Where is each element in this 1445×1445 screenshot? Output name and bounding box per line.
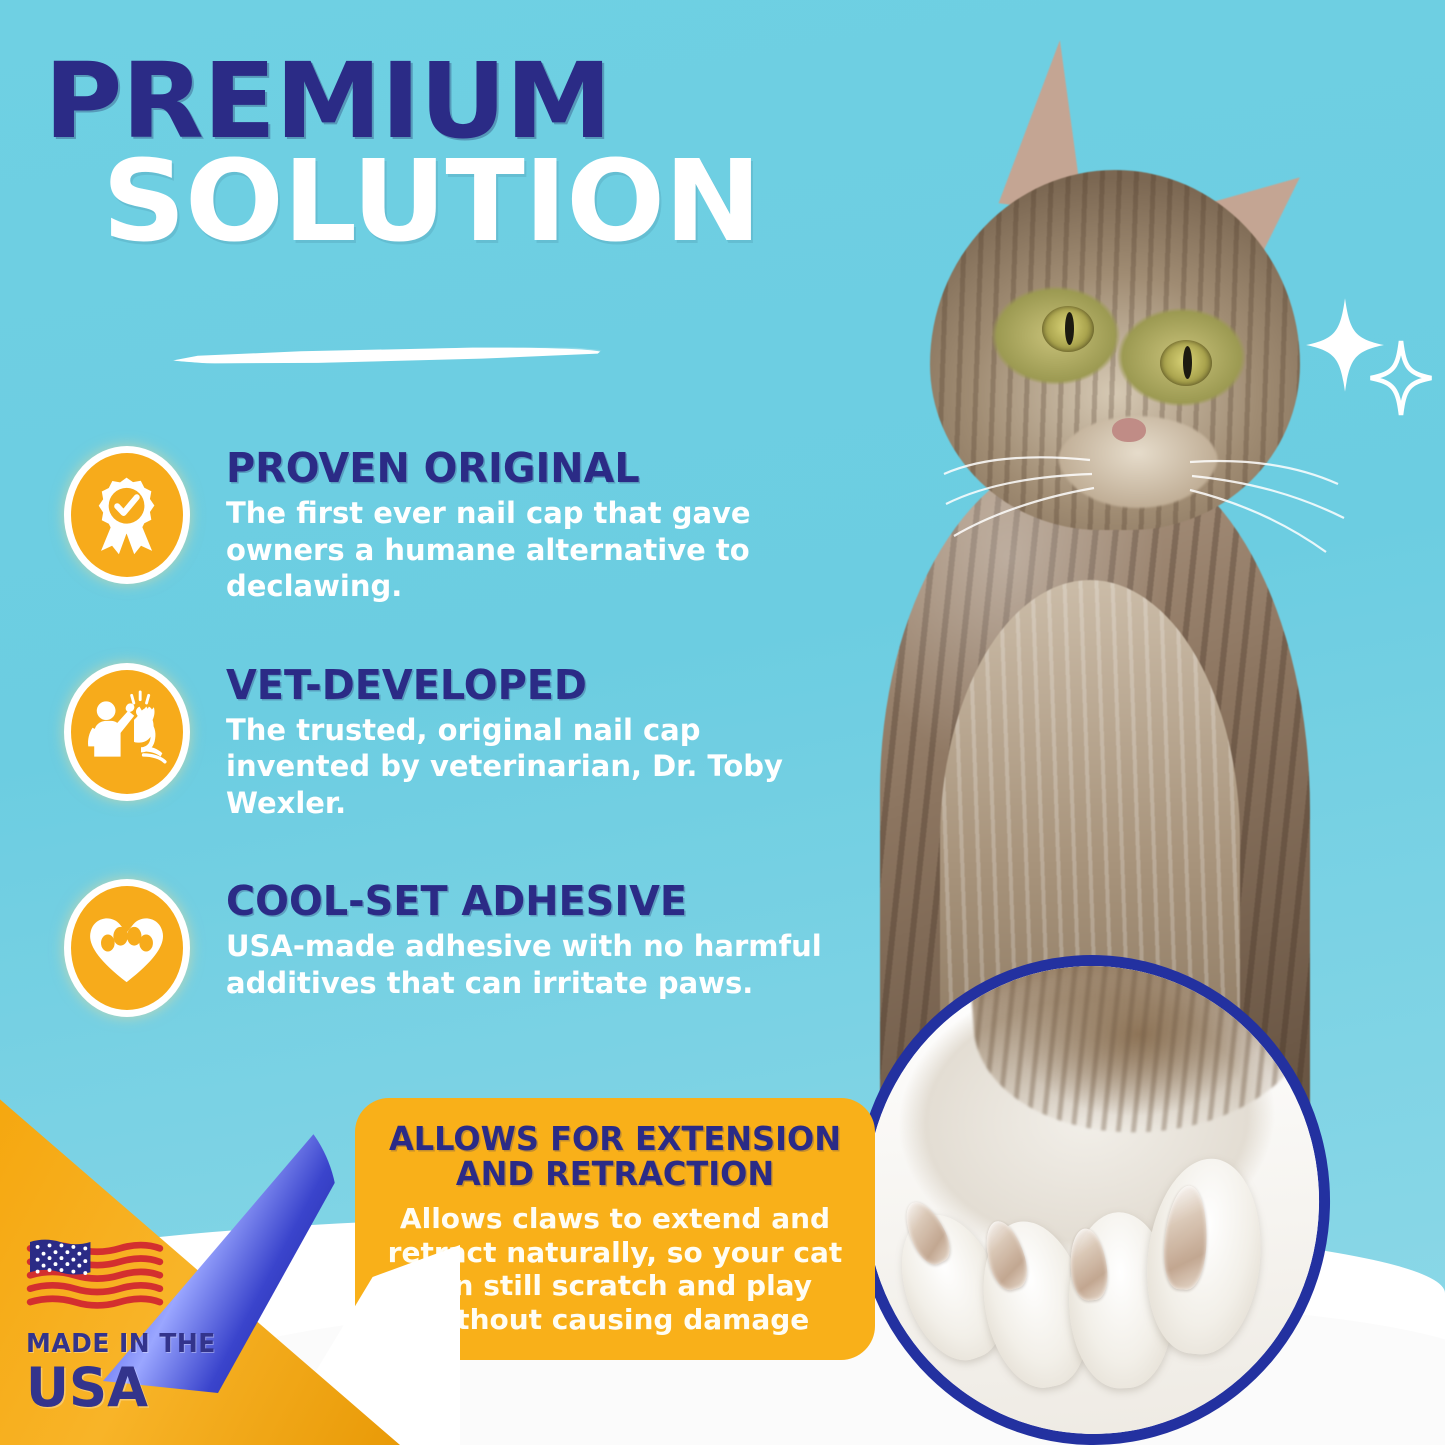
- feature-body: USA-made adhesive with no harmful additi…: [226, 928, 836, 1001]
- feature-title: PROVEN ORIGINAL: [226, 448, 808, 489]
- callout-title-line1: ALLOWS FOR EXTENSION: [384, 1122, 846, 1157]
- headline-line2: SOLUTION: [102, 146, 874, 258]
- made-in-usa-line2: USA: [26, 1361, 235, 1415]
- feature-title: VET-DEVELOPED: [226, 665, 818, 706]
- product-infographic: PREMIUM SOLUTION: [0, 0, 1445, 1445]
- usa-flag-icon: [24, 1235, 166, 1317]
- cat-paw-with-nail-caps-photo: [838, 939, 1346, 1445]
- vet-highfive-cat-icon: [56, 657, 198, 807]
- heart-paw-icon: [56, 873, 198, 1023]
- feature-body: The trusted, original nail cap invented …: [226, 712, 836, 822]
- feature-title: COOL-SET ADHESIVE: [226, 881, 818, 922]
- award-ribbon-check-icon: [56, 440, 198, 590]
- callout-title: ALLOWS FOR EXTENSION AND RETRACTION: [384, 1122, 846, 1192]
- feature-item: PROVEN ORIGINAL The first ever nail cap …: [56, 440, 836, 605]
- cat-eye-right: [1160, 340, 1212, 386]
- made-in-usa-badge: MADE IN THE USA: [24, 1235, 239, 1415]
- feature-list: PROVEN ORIGINAL The first ever nail cap …: [56, 440, 836, 1075]
- callout-title-line2: AND RETRACTION: [384, 1157, 846, 1192]
- cat-nose: [1112, 418, 1146, 442]
- made-in-usa-line1: MADE IN THE: [26, 1331, 230, 1357]
- feature-body: The first ever nail cap that gave owners…: [226, 495, 826, 605]
- feature-item: COOL-SET ADHESIVE USA-made adhesive with…: [56, 873, 836, 1023]
- feature-item: VET-DEVELOPED The trusted, original nail…: [56, 657, 836, 822]
- cat-eye-left: [1042, 306, 1094, 352]
- headline: PREMIUM SOLUTION: [44, 52, 844, 258]
